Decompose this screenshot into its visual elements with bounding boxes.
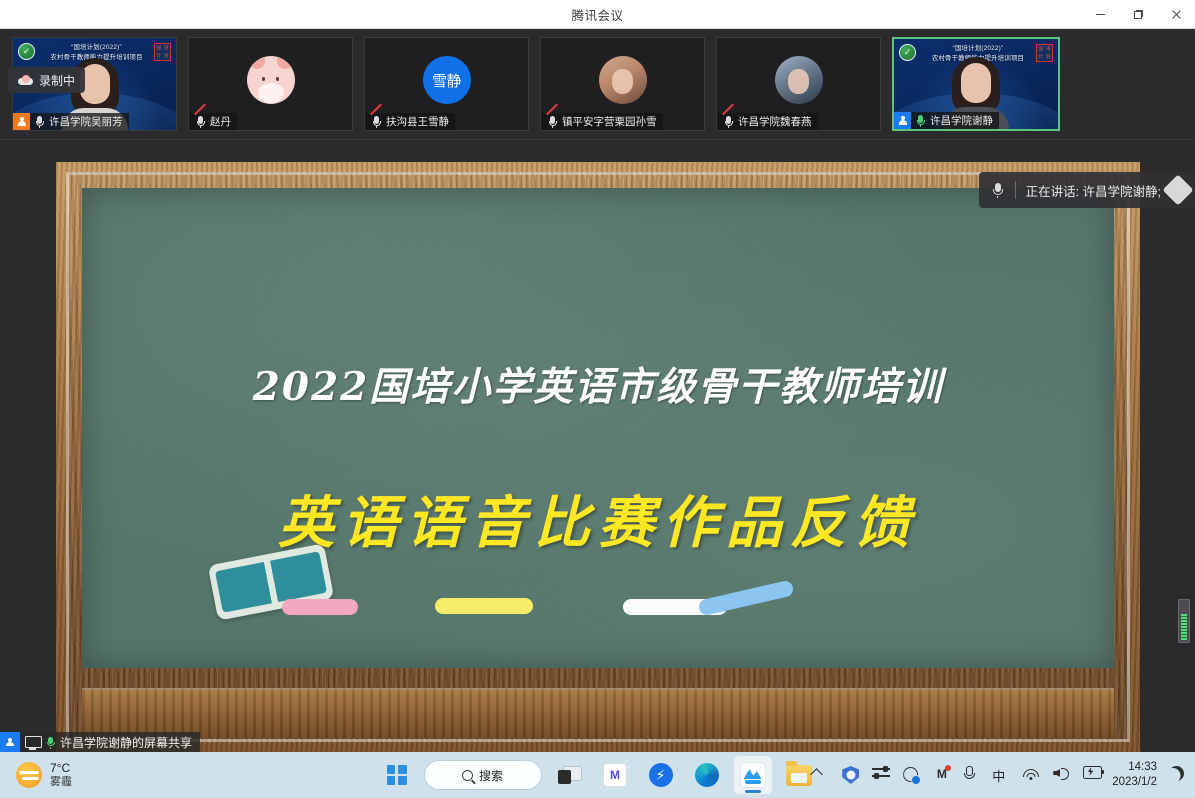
microphone-active-icon xyxy=(45,736,56,749)
institution-logo-icon: ✓ xyxy=(899,44,916,61)
person-badge-icon xyxy=(13,113,30,130)
weather-condition: 雾霾 xyxy=(50,775,72,789)
avatar xyxy=(775,56,823,104)
weather-text: 7°C 雾霾 xyxy=(50,761,72,789)
windows-taskbar: 7°C 雾霾 搜索 M ⚡ xyxy=(0,752,1195,798)
participant-namebar-5: 许昌学院魏春燕 xyxy=(717,113,818,130)
person-badge-icon xyxy=(894,112,911,129)
search-input[interactable]: 搜索 xyxy=(424,760,542,790)
participant-namebar-6: 许昌学院谢静 xyxy=(894,112,999,129)
taskbar-app-tencent-meeting[interactable] xyxy=(734,756,772,794)
participant-tile-2[interactable]: 赵丹 xyxy=(188,37,353,131)
participant-name: 赵丹 xyxy=(210,114,231,129)
microphone-muted-icon xyxy=(547,115,558,128)
task-view-icon xyxy=(558,766,580,784)
folder-icon xyxy=(786,765,812,786)
avatar: 雪静 xyxy=(423,56,471,104)
chevron-up-icon xyxy=(810,768,823,781)
divider xyxy=(0,139,1195,140)
screen-share-label: 许昌学院谢静的屏幕共享 xyxy=(60,734,192,751)
taskview-button[interactable] xyxy=(550,756,588,794)
tray-microphone-icon[interactable] xyxy=(962,766,980,784)
weather-widget[interactable]: 7°C 雾霾 xyxy=(0,761,250,789)
participant-name: 许昌学院谢静 xyxy=(930,113,993,128)
tray-app-icon[interactable]: M xyxy=(932,766,950,784)
tray-overflow-button[interactable] xyxy=(812,766,830,784)
thunder-icon: ⚡ xyxy=(649,763,673,787)
blackboard-surface: 2022国培小学英语市级骨干教师培训 英语语音比赛作品反馈 xyxy=(82,188,1114,668)
tray-security-icon[interactable] xyxy=(842,766,860,784)
participant-name: 许昌学院魏春燕 xyxy=(738,114,812,129)
ime-chinese-icon: 中 xyxy=(992,766,1010,785)
window-title: 腾讯会议 xyxy=(571,5,623,24)
volume-level-meter xyxy=(1178,599,1190,643)
microphone-icon xyxy=(962,766,974,782)
tray-settings-icon[interactable] xyxy=(872,766,890,784)
participant-tile-6[interactable]: ✓ 国培计划 “国培计划(2022)” 农村骨干教师能力提升培训项目 许昌学院谢… xyxy=(892,37,1060,131)
moon-icon xyxy=(1169,766,1184,781)
taskbar-app-edge[interactable] xyxy=(688,756,726,794)
participant-tile-3[interactable]: 雪静 扶沟县王雪静 xyxy=(364,37,529,131)
weather-temperature: 7°C xyxy=(50,761,72,775)
microphone-icon xyxy=(34,115,45,128)
maximize-button[interactable] xyxy=(1119,0,1157,29)
window-titlebar: 腾讯会议 xyxy=(0,0,1195,29)
start-button[interactable] xyxy=(378,756,416,794)
wps-m-icon: M xyxy=(603,763,627,787)
chalk-yellow-icon xyxy=(435,598,533,614)
wps-m-badge-icon: M xyxy=(932,766,950,782)
tray-battery-icon[interactable] xyxy=(1082,766,1100,784)
participant-namebar-3: 扶沟县王雪静 xyxy=(365,113,455,130)
microphone-muted-icon xyxy=(723,115,734,128)
screen-share-icon xyxy=(24,735,41,750)
battery-charging-icon xyxy=(1082,766,1102,778)
participant-name: 许昌学院吴丽芳 xyxy=(49,114,123,129)
shield-icon xyxy=(842,766,859,784)
taskbar-center-group: 搜索 M ⚡ xyxy=(378,756,818,794)
minimize-button[interactable] xyxy=(1081,0,1119,29)
seal-icon: 国培计划 xyxy=(154,43,171,61)
sync-icon xyxy=(902,766,919,783)
tray-volume-icon[interactable] xyxy=(1052,766,1070,784)
speaking-banner[interactable]: 正在讲话: 许昌学院谢静; xyxy=(979,172,1195,208)
taskbar-app-thunder[interactable]: ⚡ xyxy=(642,756,680,794)
screen-share-bar: 许昌学院谢静的屏幕共享 xyxy=(0,732,200,752)
microphone-muted-icon xyxy=(371,115,382,128)
participant-tile-5[interactable]: 许昌学院魏春燕 xyxy=(716,37,881,131)
haze-icon xyxy=(16,762,42,788)
meeting-window: 录制中 ✓ 国培计划 “国培计划(2022)” 农村骨干教师能力提升培训项目 xyxy=(0,29,1195,752)
wifi-icon xyxy=(1022,766,1040,780)
blackboard-ledge xyxy=(82,688,1114,738)
divider xyxy=(1015,181,1016,199)
participant-name: 镇平安字营栗园孙雪 xyxy=(562,114,657,129)
sliders-icon xyxy=(872,766,890,780)
seal-icon: 国培计划 xyxy=(1036,44,1053,62)
recording-label: 录制中 xyxy=(39,72,75,89)
desktop-root: 腾讯会议 录制中 xyxy=(0,0,1195,798)
microphone-icon xyxy=(991,182,1005,198)
shared-slide: 2022国培小学英语市级骨干教师培训 英语语音比赛作品反馈 xyxy=(56,162,1140,752)
slide-title-secondary: 英语语音比赛作品反馈 xyxy=(82,478,1114,559)
edge-icon xyxy=(695,763,719,787)
participant-namebar-2: 赵丹 xyxy=(189,113,237,130)
collapse-handle[interactable] xyxy=(1162,174,1193,205)
microphone-muted-icon xyxy=(195,115,206,128)
clock-date: 2023/1/2 xyxy=(1112,775,1157,790)
search-icon xyxy=(462,770,473,781)
cloud-record-icon xyxy=(18,75,33,85)
chalk-pink-icon xyxy=(282,599,358,615)
microphone-active-icon xyxy=(915,114,926,127)
windows-logo-icon xyxy=(387,765,407,785)
tray-wifi-icon[interactable] xyxy=(1022,766,1040,784)
close-button[interactable] xyxy=(1157,0,1195,29)
avatar xyxy=(247,56,295,104)
participant-strip: ✓ 国培计划 “国培计划(2022)” 农村骨干教师能力提升培训项目 许昌学院吴… xyxy=(0,29,1195,139)
shared-screen-area: 2022国培小学英语市级骨干教师培训 英语语音比赛作品反馈 正在讲话: 许昌学院… xyxy=(0,139,1195,752)
system-tray: M 中 14:33 2023/1/2 xyxy=(812,760,1187,790)
avatar xyxy=(599,56,647,104)
participant-namebar-1: 许昌学院吴丽芳 xyxy=(13,113,129,130)
search-placeholder: 搜索 xyxy=(479,767,503,784)
tray-sync-icon[interactable] xyxy=(902,766,920,784)
institution-logo-icon: ✓ xyxy=(18,43,35,60)
recording-indicator[interactable]: 录制中 xyxy=(8,67,85,93)
tray-ime-indicator[interactable]: 中 xyxy=(992,766,1010,784)
taskbar-clock[interactable]: 14:33 2023/1/2 xyxy=(1112,760,1157,790)
participant-name: 扶沟县王雪静 xyxy=(386,114,449,129)
tray-notifications-button[interactable] xyxy=(1169,766,1187,784)
tencent-meeting-icon xyxy=(740,762,766,788)
taskbar-app-wps[interactable]: M xyxy=(596,756,634,794)
speaking-label: 正在讲话: 许昌学院谢静; xyxy=(1026,181,1161,200)
participant-namebar-4: 镇平安字营栗园孙雪 xyxy=(541,113,663,130)
clock-time: 14:33 xyxy=(1112,760,1157,775)
participant-tile-4[interactable]: 镇平安字营栗园孙雪 xyxy=(540,37,705,131)
window-controls xyxy=(1081,0,1195,29)
volume-icon xyxy=(1052,766,1070,780)
slide-title-primary: 2022国培小学英语市级骨干教师培训 xyxy=(82,356,1114,412)
person-badge-icon xyxy=(0,732,20,752)
